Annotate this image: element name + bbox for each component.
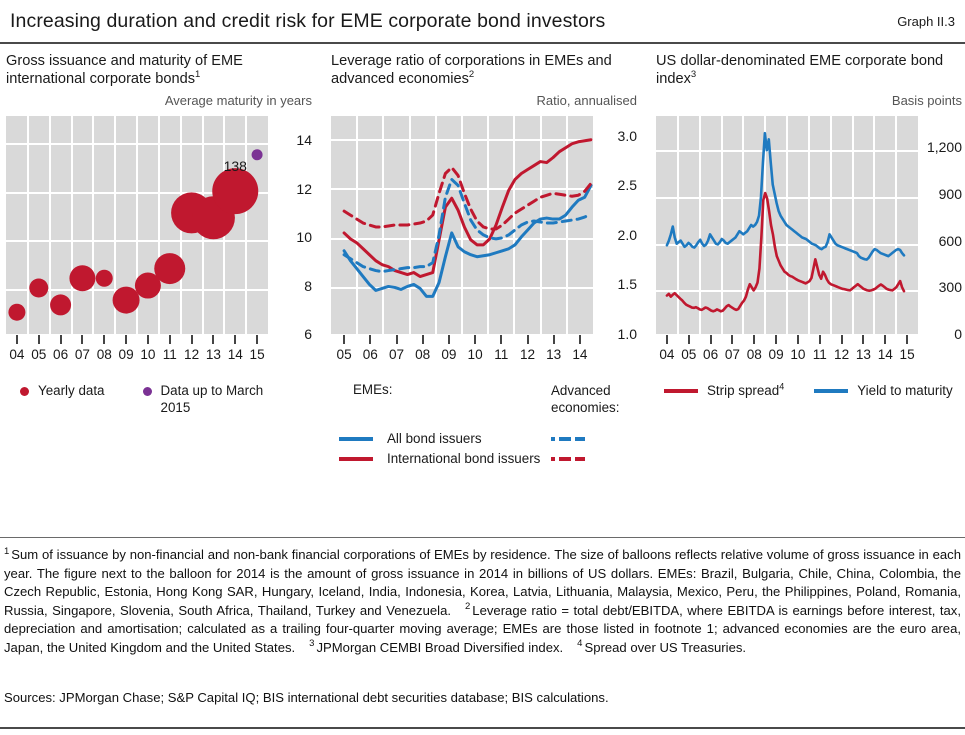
- graph-number: Graph II.3: [897, 14, 955, 29]
- y-axis-tick-label: 300: [939, 279, 962, 295]
- y-axis-tick-label: 1.0: [618, 326, 637, 342]
- panel-gross-issuance: Gross issuance and maturity of EME inter…: [6, 50, 314, 530]
- legend-group-headers: EMEs: Advanced economies:: [339, 382, 647, 416]
- panel1-plot: 68101214040506070809101112131415138: [6, 112, 314, 378]
- y-axis-tick-label: 2.5: [618, 177, 637, 193]
- data-line: [667, 133, 904, 259]
- data-bubble: [29, 278, 48, 297]
- data-line: [667, 193, 904, 311]
- recent-data-dot-icon: [143, 387, 152, 396]
- y-axis-tick-label: 1.5: [618, 276, 637, 292]
- legend-label-strip-spread: Strip spread4: [707, 382, 784, 399]
- y-axis-labels: 1.01.52.02.53.0: [593, 112, 639, 378]
- data-bubble: [212, 168, 258, 214]
- legend-label-yield-to-maturity: Yield to maturity: [857, 382, 953, 399]
- legend-item-recent: Data up to March 2015: [143, 382, 271, 416]
- panel1-legend: Yearly data Data up to March 2015: [6, 382, 328, 416]
- data-bubble: [113, 287, 140, 314]
- data-bubble: [69, 265, 95, 291]
- legend-label-international-bond-issuers: International bond issuers: [379, 450, 551, 467]
- all-issuers-solid-line-icon: [339, 430, 379, 441]
- panel3-legend: Strip spread4 Yield to maturity: [656, 382, 965, 399]
- y-axis-tick-label: 3.0: [618, 128, 637, 144]
- panel3-plot: 03006009001,200040506070809101112131415: [656, 112, 964, 378]
- y-axis-tick-label: 600: [939, 233, 962, 249]
- series-layer: [6, 112, 268, 378]
- panel1-title: Gross issuance and maturity of EME inter…: [6, 50, 314, 92]
- y-axis-tick-label: 900: [939, 186, 962, 202]
- legend-item-strip-spread: Strip spread4: [664, 382, 784, 399]
- legend-item-international-bond-issuers: International bond issuers: [339, 450, 647, 467]
- y-axis-tick-label: 2.0: [618, 227, 637, 243]
- panel3-title: US dollar-denominated EME corporate bond…: [656, 50, 964, 92]
- legend-item-all-bond-issuers: All bond issuers: [339, 430, 647, 447]
- footnote-3-text: JPMorgan CEMBI Broad Diversified index.: [316, 640, 563, 655]
- panel3-unit: Basis points: [656, 92, 964, 112]
- all-issuers-dashed-line-icon: [551, 430, 647, 441]
- y-axis-tick-label: 12: [296, 181, 312, 197]
- y-axis-tick-label: 0: [954, 326, 962, 342]
- legend-item-yield-to-maturity: Yield to maturity: [814, 382, 953, 399]
- panels-container: Gross issuance and maturity of EME inter…: [0, 50, 965, 530]
- panel1-title-footnote-ref: 1: [195, 69, 200, 80]
- page-title: Increasing duration and credit risk for …: [10, 10, 605, 33]
- footnotes-divider: [0, 537, 965, 538]
- legend-label-all-bond-issuers: All bond issuers: [379, 430, 551, 447]
- legend-label-recent: Data up to March 2015: [161, 382, 271, 416]
- series-layer: [656, 112, 918, 378]
- panel-bond-index: US dollar-denominated EME corporate bond…: [656, 50, 964, 530]
- panel1-title-text: Gross issuance and maturity of EME inter…: [6, 53, 243, 87]
- sources-line: Sources: JPMorgan Chase; S&P Capital IQ;…: [4, 690, 961, 705]
- legend-group-emes: EMEs:: [339, 382, 392, 416]
- footnotes: 1Sum of issuance by non-financial and no…: [4, 546, 961, 657]
- panel2-title: Leverage ratio of corporations in EMEs a…: [331, 50, 639, 92]
- intl-issuers-solid-line-icon: [339, 450, 379, 461]
- panel3-title-footnote-ref: 3: [691, 69, 696, 80]
- bubble-value-label: 138: [224, 158, 247, 174]
- data-line: [344, 179, 591, 271]
- footer-divider: [0, 727, 965, 729]
- y-axis-labels: 03006009001,200: [918, 112, 964, 378]
- data-bubble: [96, 270, 113, 287]
- yield-to-maturity-line-icon: [814, 389, 848, 393]
- data-bubble: [50, 294, 71, 315]
- graph-page: Increasing duration and credit risk for …: [0, 0, 965, 735]
- data-bubble: [8, 304, 25, 321]
- y-axis-labels: 68101214: [268, 112, 314, 378]
- series-layer: [331, 112, 593, 378]
- panel2-plot: 1.01.52.02.53.005060708091011121314: [331, 112, 639, 378]
- strip-spread-footnote-ref: 4: [779, 382, 784, 392]
- yearly-data-dot-icon: [20, 387, 29, 396]
- panel2-title-footnote-ref: 2: [469, 69, 474, 80]
- panel-leverage-ratio: Leverage ratio of corporations in EMEs a…: [331, 50, 639, 530]
- legend-label-yearly: Yearly data: [38, 382, 105, 399]
- legend-item-yearly: Yearly data: [20, 382, 105, 416]
- panel3-title-text: US dollar-denominated EME corporate bond…: [656, 53, 943, 87]
- y-axis-tick-label: 10: [296, 229, 312, 245]
- data-bubble: [252, 149, 263, 160]
- y-axis-tick-label: 6: [304, 326, 312, 342]
- y-axis-tick-label: 14: [296, 132, 312, 148]
- data-bubble: [154, 253, 185, 284]
- panel2-unit: Ratio, annualised: [331, 92, 639, 112]
- intl-issuers-dashed-line-icon: [551, 450, 647, 461]
- header-divider: [0, 42, 965, 44]
- page-header: Increasing duration and credit risk for …: [0, 0, 965, 42]
- strip-spread-line-icon: [664, 389, 698, 393]
- footnote-4-text: Spread over US Treasuries.: [584, 640, 746, 655]
- y-axis-tick-label: 8: [304, 278, 312, 294]
- y-axis-tick-label: 1,200: [927, 139, 962, 155]
- panel2-legend: EMEs: Advanced economies: All bond issue…: [331, 382, 647, 467]
- panel1-unit: Average maturity in years: [6, 92, 314, 112]
- legend-group-advanced: Advanced economies:: [551, 382, 647, 416]
